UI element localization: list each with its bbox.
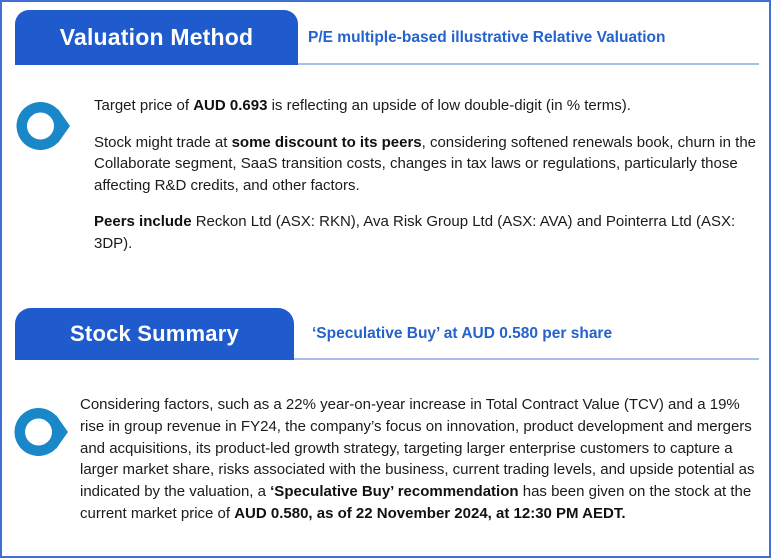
section-header-valuation-method: Valuation Method P/E multiple-based illu… <box>2 10 771 76</box>
emphasis-target-price: AUD 0.693 <box>193 97 267 114</box>
header-rule <box>294 358 759 360</box>
paragraph: Stock might trade at some discount to it… <box>94 132 764 197</box>
section-subtitle-valuation-method: P/E multiple-based illustrative Relative… <box>308 10 665 65</box>
tab-valuation-method: Valuation Method <box>15 10 298 65</box>
emphasis-discount-peers: some discount to its peers <box>232 134 422 151</box>
valuation-summary-card: Valuation Method P/E multiple-based illu… <box>0 0 771 558</box>
section-subtitle-stock-summary: ‘Speculative Buy’ at AUD 0.580 per share <box>312 308 612 360</box>
valuation-method-body: Target price of AUD 0.693 is reflecting … <box>94 95 764 254</box>
paragraph: Peers include Reckon Ltd (ASX: RKN), Ava… <box>94 211 764 254</box>
emphasis-price-timestamp: AUD 0.580, as of 22 November 2024, at 12… <box>234 505 625 522</box>
paragraph: Considering factors, such as a 22% year-… <box>80 394 755 525</box>
emphasis-recommendation: ‘Speculative Buy’ recommendation <box>270 483 518 500</box>
paragraph: Target price of AUD 0.693 is reflecting … <box>94 95 764 117</box>
tab-label: Valuation Method <box>60 26 254 49</box>
emphasis-peers-include: Peers include <box>94 213 192 230</box>
header-rule <box>298 63 759 65</box>
section-header-stock-summary: Stock Summary ‘Speculative Buy’ at AUD 0… <box>2 308 771 374</box>
circle-pin-marker-icon <box>12 406 70 458</box>
stock-summary-body: Considering factors, such as a 22% year-… <box>80 394 755 525</box>
circle-pin-marker-icon <box>14 100 72 152</box>
tab-label: Stock Summary <box>70 323 239 345</box>
tab-stock-summary: Stock Summary <box>15 308 294 360</box>
